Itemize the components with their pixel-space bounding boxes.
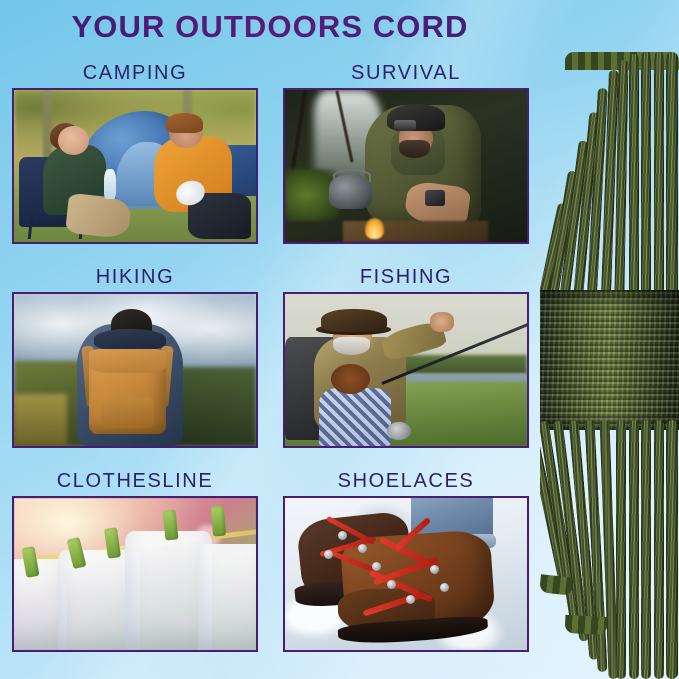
paracord-strand bbox=[629, 420, 639, 679]
paracord-loop-crest bbox=[540, 574, 574, 595]
fishing-man-hand bbox=[430, 312, 454, 332]
hiking-foreground-grass bbox=[14, 394, 67, 446]
clothespin bbox=[211, 505, 226, 536]
fishing-photo bbox=[285, 294, 527, 446]
fishing-boy-shirt bbox=[319, 388, 392, 446]
survival-headlamp bbox=[394, 120, 416, 131]
paracord-wound-band bbox=[540, 290, 679, 430]
survival-wristwatch bbox=[425, 190, 444, 205]
tile-label-fishing: FISHING bbox=[283, 266, 529, 289]
paracord-loop-crest bbox=[565, 615, 608, 635]
paracord-product-image bbox=[540, 0, 679, 679]
paracord-strand bbox=[666, 420, 678, 679]
camping-bottle bbox=[104, 169, 116, 199]
paracord-upper-strands bbox=[540, 52, 679, 307]
boot-eyelet bbox=[324, 550, 333, 559]
fishing-boy-head bbox=[331, 364, 370, 394]
hiking-backpack-flap bbox=[89, 349, 166, 373]
paracord-strand bbox=[616, 420, 626, 679]
survival-kettle bbox=[329, 175, 373, 208]
camping-photo bbox=[14, 90, 256, 242]
photo-tile-shoelaces[interactable] bbox=[283, 496, 529, 652]
hiking-jacket-collar bbox=[94, 329, 167, 350]
boot-eyelet bbox=[358, 544, 367, 553]
photo-tile-fishing[interactable] bbox=[283, 292, 529, 448]
tile-label-shoelaces: SHOELACES bbox=[283, 470, 529, 493]
fishing-reel bbox=[387, 422, 411, 440]
boot-eyelet bbox=[372, 562, 381, 571]
tile-label-hiking: HIKING bbox=[12, 266, 258, 289]
fishing-man-beard bbox=[333, 337, 369, 355]
photo-tile-survival[interactable] bbox=[283, 88, 529, 244]
tile-label-camping: CAMPING bbox=[12, 62, 258, 85]
photo-tile-hiking[interactable] bbox=[12, 292, 258, 448]
clothesline-photo bbox=[14, 498, 256, 650]
fishing-hat bbox=[321, 309, 386, 332]
camping-man-beanie bbox=[166, 113, 202, 133]
survival-campfire-flame bbox=[365, 218, 384, 239]
hiking-backpack-pocket bbox=[101, 397, 154, 427]
clothesline-garment bbox=[198, 544, 258, 652]
tile-label-clothesline: CLOTHESLINE bbox=[12, 470, 258, 493]
paracord-band-shadow-top bbox=[540, 290, 679, 306]
photo-tile-clothesline[interactable] bbox=[12, 496, 258, 652]
boot-eyelet bbox=[440, 583, 449, 592]
product-infographic: YOUR OUTDOORS CORD CAMPING SURVI bbox=[0, 0, 679, 679]
survival-photo bbox=[285, 90, 527, 242]
page-title: YOUR OUTDOORS CORD bbox=[0, 9, 540, 45]
paracord-strand bbox=[654, 420, 664, 679]
boot-eyelet bbox=[387, 580, 396, 589]
hiking-photo bbox=[14, 294, 256, 446]
paracord-lower-strands bbox=[540, 420, 679, 679]
boot-eyelet bbox=[430, 565, 439, 574]
photo-tile-camping[interactable] bbox=[12, 88, 258, 244]
tile-label-survival: SURVIVAL bbox=[283, 62, 529, 85]
shoelaces-photo bbox=[285, 498, 527, 650]
paracord-strand bbox=[641, 420, 651, 679]
